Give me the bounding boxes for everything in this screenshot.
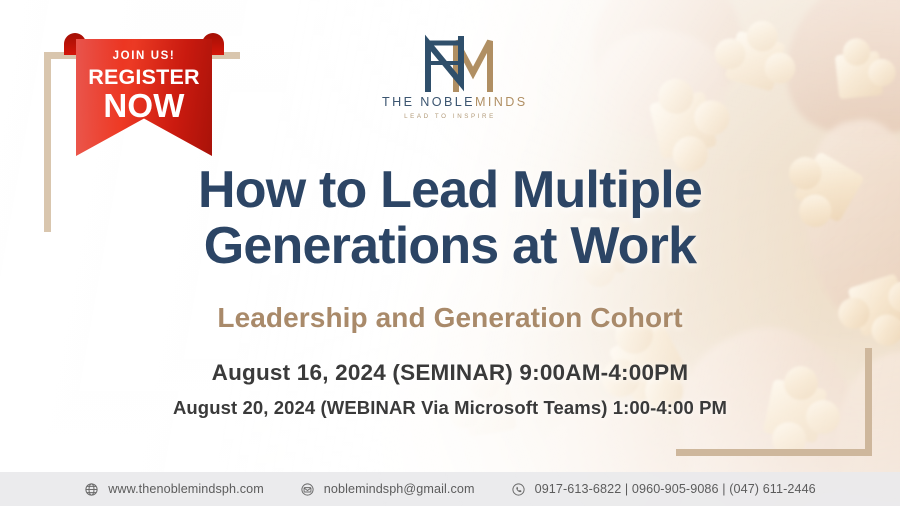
ribbon-join-label: JOIN US! <box>76 50 212 62</box>
globe-icon <box>84 482 99 497</box>
seminar-date-line: August 16, 2024 (SEMINAR) 9:00AM-4:00PM <box>0 360 900 386</box>
brand-logo: THE NOBLEMINDS LEAD TO INSPIRE <box>382 33 518 120</box>
brand-name-minds: MINDS <box>475 95 528 109</box>
headline-line-1: How to Lead Multiple <box>0 162 900 218</box>
contact-phone[interactable]: 0917-613-6822 | 0960-905-9086 | (047) 61… <box>511 482 816 497</box>
contact-website-text: www.thenoblemindsph.com <box>108 482 264 496</box>
page-title: How to Lead Multiple Generations at Work <box>0 162 900 274</box>
page-subtitle: Leadership and Generation Cohort <box>0 302 900 334</box>
event-poster: JOIN US! REGISTER NOW THE NOBLEMINDS LEA… <box>0 0 900 506</box>
contact-email-text: noblemindsph@gmail.com <box>324 482 475 496</box>
webinar-date-line: August 20, 2024 (WEBINAR Via Microsoft T… <box>0 397 900 419</box>
frame-line-horizontal <box>676 449 872 456</box>
brand-name-the: THE NOBLE <box>382 95 475 109</box>
ribbon-now-label: NOW <box>76 89 212 122</box>
ribbon-text-group: JOIN US! REGISTER NOW <box>76 39 212 122</box>
nm-monogram-icon <box>382 33 518 93</box>
contact-footer-bar: www.thenoblemindsph.com noblemindsph@gma… <box>0 472 900 506</box>
envelope-icon <box>300 482 315 497</box>
headline-line-2: Generations at Work <box>0 218 900 274</box>
brand-tagline: LEAD TO INSPIRE <box>382 113 518 120</box>
contact-website[interactable]: www.thenoblemindsph.com <box>84 482 264 497</box>
contact-email[interactable]: noblemindsph@gmail.com <box>300 482 475 497</box>
event-dates: August 16, 2024 (SEMINAR) 9:00AM-4:00PM … <box>0 360 900 419</box>
phone-icon <box>511 482 526 497</box>
contact-phone-text: 0917-613-6822 | 0960-905-9086 | (047) 61… <box>535 482 816 496</box>
ribbon-register-label: REGISTER <box>76 67 212 89</box>
brand-name: THE NOBLEMINDS <box>382 95 518 109</box>
register-now-ribbon[interactable]: JOIN US! REGISTER NOW <box>76 33 212 156</box>
